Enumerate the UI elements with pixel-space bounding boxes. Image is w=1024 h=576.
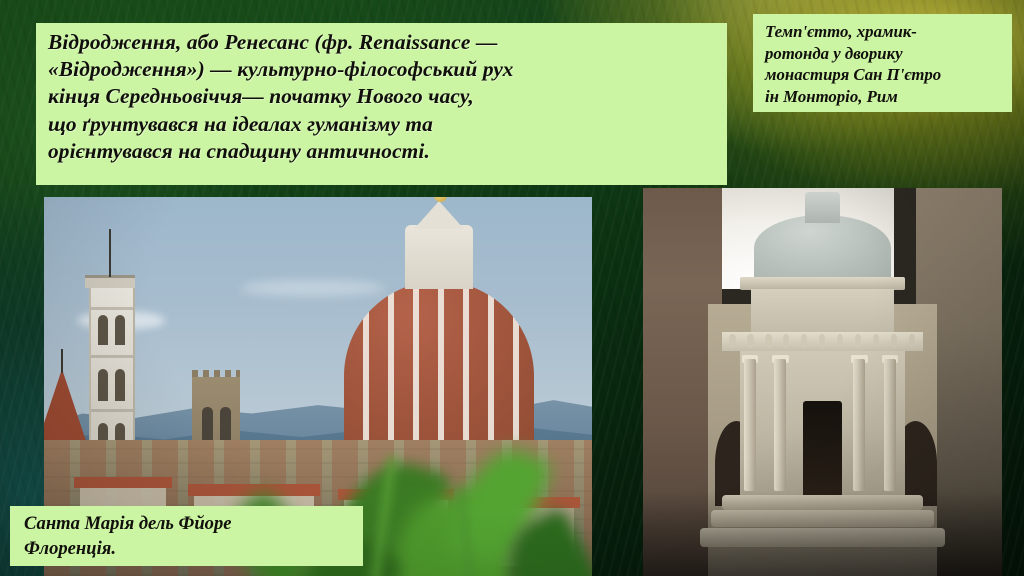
main-text-line: що ґрунтувався на ідеалах гуманізму та [48,111,717,138]
caption-line: ротонда у дворику [765,43,1004,65]
tempietto-cornice [740,277,905,289]
doric-column [744,359,756,491]
caption-line: монастиря Сан П'єтро [765,64,1004,86]
main-text-line: кінця Середньовіччя— початку Нового часу… [48,83,717,110]
doric-column [884,359,896,491]
city-roof [74,477,172,488]
caption-line: Санта Марія дель Фйоре [24,511,355,536]
photo-shadow-gradient [643,491,1002,576]
side-spire [44,369,88,447]
tower-crenellation [192,370,240,377]
main-text-line: орієнтувався на спадщину античності. [48,138,717,165]
doric-column [853,359,865,491]
campanile-lightning-rod [109,229,111,277]
tempietto-photo [643,188,1002,576]
doric-column [774,359,786,491]
caption-line: Темп'єтто, храмик- [765,21,1004,43]
caption-line: ін Монторіо, Рим [765,86,1004,108]
dome-lantern [405,225,473,289]
presentation-slide: Відродження, або Ренесанс (фр. Renaissan… [0,0,1024,576]
tempietto-drum [751,289,895,332]
main-text-panel: Відродження, або Ренесанс (фр. Renaissan… [36,23,727,185]
caption-line: Флоренція. [24,536,355,561]
tempietto-caption-panel: Темп'єтто, храмик- ротонда у дворику мон… [753,14,1012,112]
spire-rod [61,349,63,373]
duomo-caption-panel: Санта Марія дель Фйоре Флоренція. [10,506,363,566]
tempietto-dome [754,215,890,281]
lantern-cone [414,201,464,229]
cloud-shape [241,280,383,295]
city-roof [188,484,320,496]
main-text-line: Відродження, або Ренесанс (фр. Renaissan… [48,29,717,56]
tempietto-lantern [805,192,841,223]
main-text-line: «Відродження») — культурно-філософський … [48,56,717,83]
